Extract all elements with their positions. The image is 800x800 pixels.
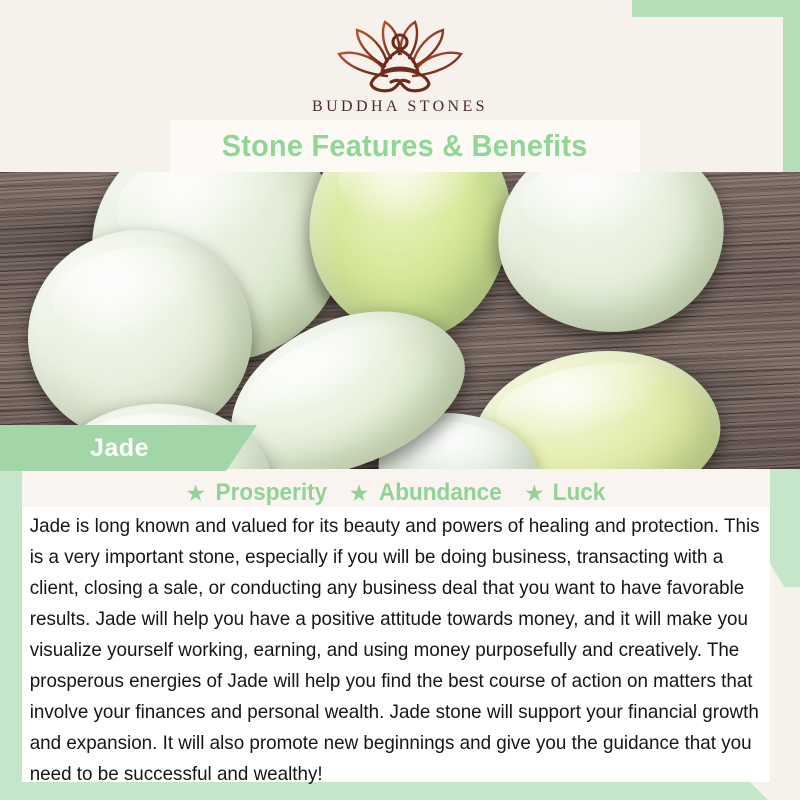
benefit-label: Prosperity <box>216 479 328 507</box>
benefit-item: ★ Luck <box>524 479 607 507</box>
lotus-meditation-icon <box>325 18 475 96</box>
stone-name: Jade <box>90 434 149 463</box>
star-icon: ★ <box>524 482 545 505</box>
brand-logo: BUDDHA STONES <box>0 18 800 116</box>
benefits-row: ★ Prosperity ★ Abundance ★ Luck <box>22 469 770 507</box>
description-card: ★ Prosperity ★ Abundance ★ Luck Jade is … <box>22 469 770 782</box>
infographic-page: BUDDHA STONES Stone Features & Benefits … <box>0 0 800 800</box>
benefit-label: Abundance <box>379 479 502 507</box>
benefit-item: ★ Abundance <box>349 479 506 507</box>
benefit-item: ★ Prosperity <box>185 479 330 507</box>
star-icon: ★ <box>185 482 206 505</box>
stone-photo <box>0 172 800 469</box>
stone-name-band: Jade <box>0 425 257 471</box>
title-banner: Stone Features & Benefits <box>170 120 640 172</box>
brand-wordmark: BUDDHA STONES <box>0 98 800 116</box>
frame-accent-top-right <box>632 0 800 17</box>
star-icon: ★ <box>349 482 370 505</box>
page-title: Stone Features & Benefits <box>222 128 588 164</box>
description-text: Jade is long known and valued for its be… <box>22 507 771 790</box>
benefit-label: Luck <box>552 479 605 507</box>
